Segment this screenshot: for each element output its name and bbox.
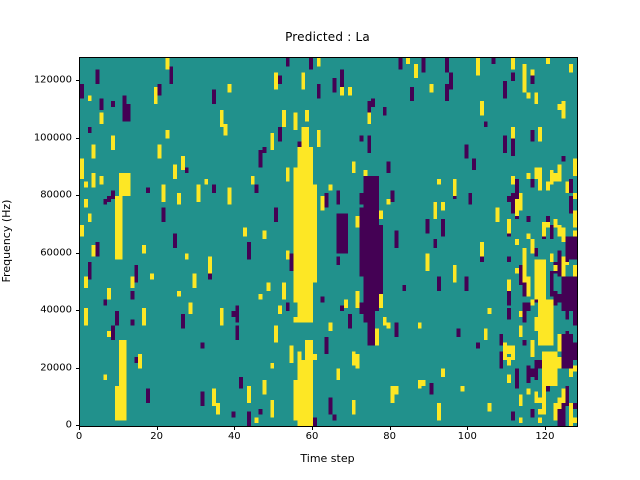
x-axis-tick-mark: [79, 426, 80, 430]
y-axis-tick-label: 80000: [0, 190, 72, 201]
y-axis-tick-mark: [76, 368, 80, 369]
heatmap-plot-area[interactable]: [79, 57, 578, 427]
y-axis-tick-mark: [76, 195, 80, 196]
x-axis-tick-mark: [545, 426, 546, 430]
x-axis-tick-label: 100: [458, 431, 477, 442]
y-axis-tick-label: 60000: [0, 247, 72, 258]
x-axis-tick-mark: [157, 426, 158, 430]
y-axis-tick-mark: [76, 310, 80, 311]
y-axis-tick-mark: [76, 80, 80, 81]
x-axis-tick-label: 120: [535, 431, 554, 442]
x-axis-tick-mark: [390, 426, 391, 430]
y-axis-tick-label: 100000: [0, 132, 72, 143]
figure-canvas: Predicted : La Frequency (Hz) 0200004000…: [0, 0, 640, 480]
x-axis-tick-mark: [234, 426, 235, 430]
x-axis-tick-mark: [467, 426, 468, 430]
x-axis-tick-label: 40: [228, 431, 241, 442]
x-axis-label: Time step: [79, 452, 576, 465]
y-axis-label: Frequency (Hz): [0, 200, 13, 283]
x-axis-tick-mark: [312, 426, 313, 430]
y-axis-tick-mark: [76, 138, 80, 139]
y-axis-tick-label: 40000: [0, 305, 72, 316]
heatmap-image: [80, 58, 577, 426]
x-axis-tick-label: 0: [76, 431, 82, 442]
y-axis-tick-mark: [76, 253, 80, 254]
x-axis-tick-label: 80: [383, 431, 396, 442]
x-axis-tick-label: 60: [306, 431, 319, 442]
y-axis-tick-label: 120000: [0, 75, 72, 86]
x-axis-tick-label: 20: [150, 431, 163, 442]
y-axis-tick-label: 0: [0, 420, 72, 431]
y-axis-tick-label: 20000: [0, 362, 72, 373]
page-title: Predicted : La: [79, 30, 576, 44]
